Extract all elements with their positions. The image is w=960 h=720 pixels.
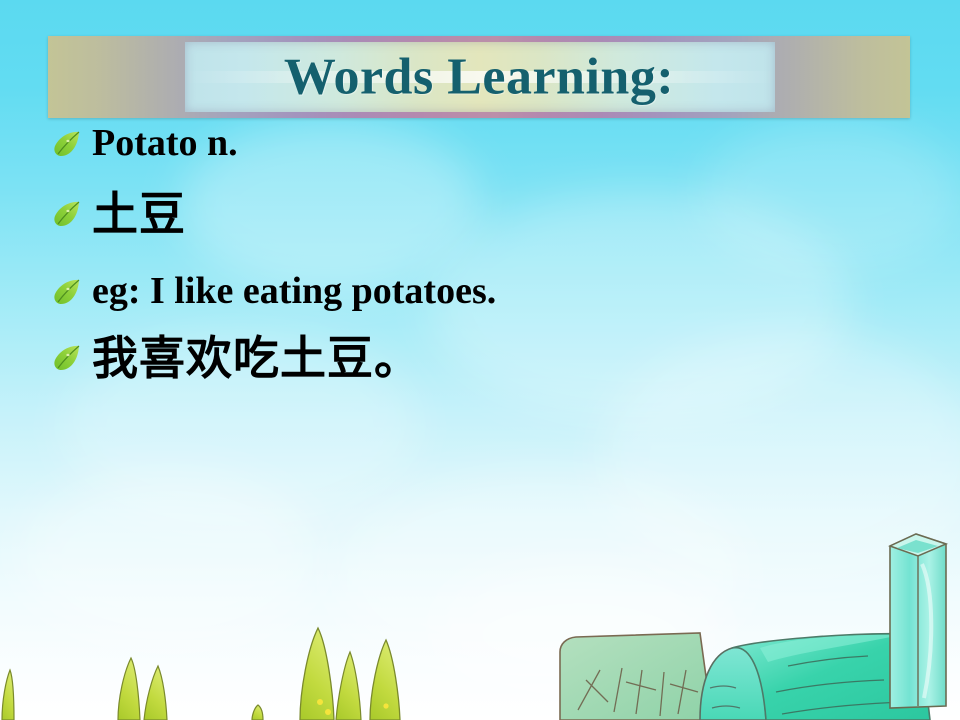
list-item: Potato n. xyxy=(52,124,932,164)
leaf-icon xyxy=(52,278,82,306)
word-list: Potato n. 土豆 eg: I like eating potatoes. xyxy=(52,124,932,398)
slide-canvas: Words Learning: Potato n. xyxy=(0,0,960,720)
grass-cluster-left xyxy=(2,628,400,720)
list-item-label: eg: I like eating potatoes. xyxy=(92,272,496,312)
house-roof xyxy=(560,633,712,720)
chimney xyxy=(890,534,946,708)
cloud-blob xyxy=(20,470,320,650)
leaf-icon xyxy=(52,130,82,158)
list-item: 土豆 xyxy=(52,190,932,238)
list-item-label: 我喜欢吃土豆。 xyxy=(92,334,421,382)
leaf-icon xyxy=(52,344,82,372)
cloud-blob xyxy=(430,560,730,710)
cloud-blob xyxy=(330,470,750,690)
house-wall xyxy=(700,634,930,720)
list-item: eg: I like eating potatoes. xyxy=(52,272,932,312)
decorative-scenery xyxy=(0,520,960,720)
list-item-label: 土豆 xyxy=(92,190,186,238)
list-item-label: Potato n. xyxy=(92,124,238,164)
title-banner: Words Learning: xyxy=(48,36,910,118)
page-title: Words Learning: xyxy=(48,48,910,107)
leaf-icon xyxy=(52,200,82,228)
list-item: 我喜欢吃土豆。 xyxy=(52,334,932,382)
